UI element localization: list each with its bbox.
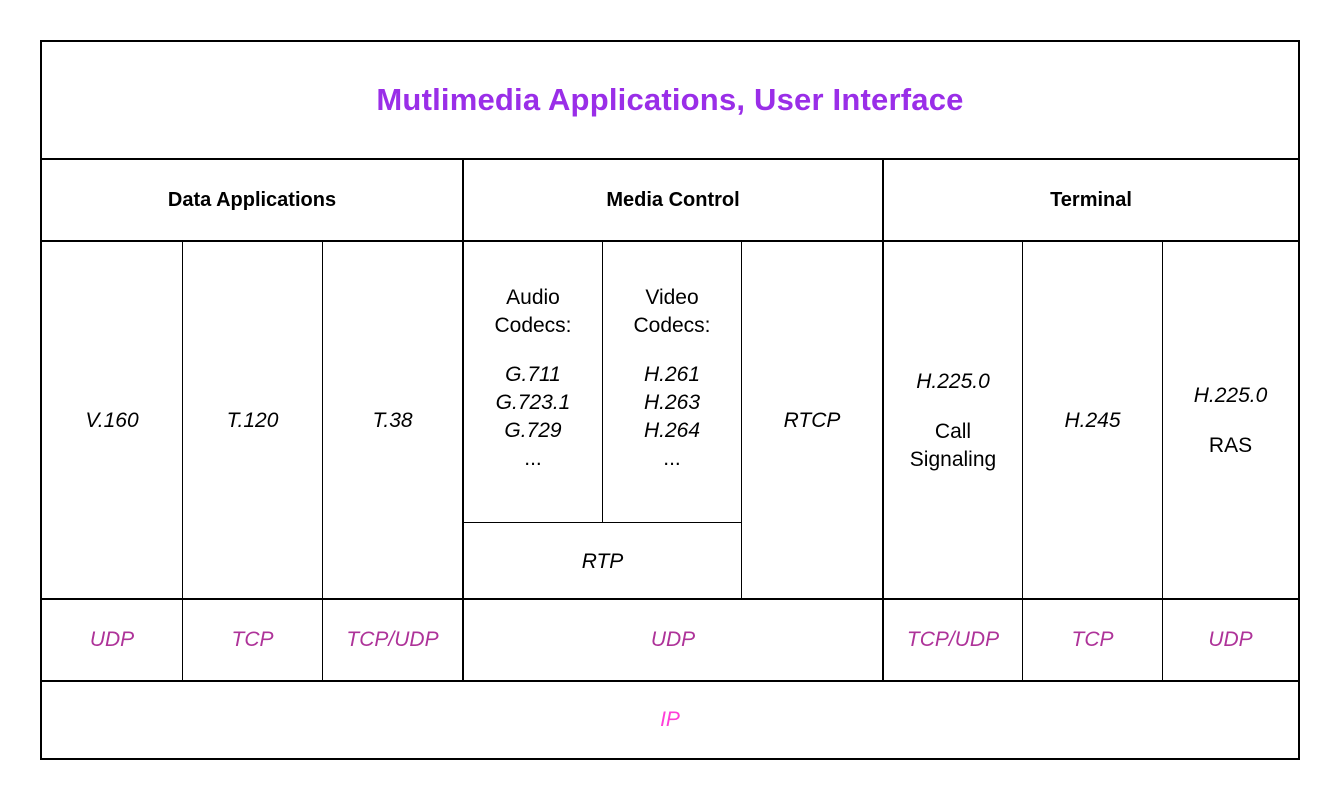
network-layer-row: IP [42, 682, 1298, 758]
label-v160: V.160 [85, 407, 138, 435]
transport-cell-v160: UDP [42, 600, 182, 680]
video-codecs-heading-line1: Video [645, 284, 698, 312]
cell-v160: V.160 [42, 242, 182, 600]
section-label-terminal: Terminal [1050, 189, 1132, 212]
label-rtcp: RTCP [784, 407, 841, 435]
diagram-title-band: Mutlimedia Applications, User Interface [42, 42, 1298, 160]
network-label-ip: IP [660, 708, 680, 732]
transport-cell-media: UDP [462, 600, 882, 680]
video-codecs-ellipsis: ... [663, 445, 681, 473]
cell-audio-codecs: Audio Codecs: G.711 G.723.1 G.729 ... [462, 242, 602, 522]
cell-t38: T.38 [322, 242, 462, 600]
label-ras: RAS [1209, 432, 1252, 460]
audio-codec-g711: G.711 [505, 361, 561, 389]
audio-codecs-ellipsis: ... [524, 445, 542, 473]
cell-rtcp: RTCP [742, 242, 882, 600]
label-t120: T.120 [227, 407, 279, 435]
transport-cell-h245: TCP [1022, 600, 1162, 680]
label-h245: H.245 [1064, 407, 1120, 435]
transport-label-tcp-1: TCP [232, 628, 274, 652]
transport-label-udp-2: UDP [651, 628, 695, 652]
video-codecs-heading-line2: Codecs: [633, 312, 710, 340]
audio-codec-g7231: G.723.1 [496, 389, 571, 417]
cell-h2250-call-signaling: H.225.0 Call Signaling [882, 242, 1022, 600]
section-terminal: Terminal [882, 160, 1298, 240]
protocol-stack-diagram: Mutlimedia Applications, User Interface … [40, 40, 1300, 760]
transport-label-udp-1: UDP [90, 628, 134, 652]
audio-codecs-heading-line2: Codecs: [494, 312, 571, 340]
cell-t120: T.120 [182, 242, 322, 600]
label-call-line1: Call [935, 418, 971, 446]
video-codec-h263: H.263 [644, 389, 700, 417]
label-rtp: RTP [582, 548, 624, 576]
section-header-row: Data Applications Media Control Terminal [42, 160, 1298, 242]
audio-codec-g729: G.729 [504, 417, 561, 445]
cell-h245: H.245 [1022, 242, 1162, 600]
transport-cell-ras: UDP [1162, 600, 1298, 680]
transport-cell-t38: TCP/UDP [322, 600, 462, 680]
audio-codecs-heading-line1: Audio [506, 284, 560, 312]
label-call-line2: Signaling [910, 446, 996, 474]
video-codec-h261: H.261 [644, 361, 700, 389]
label-h2250-ras: H.225.0 [1194, 382, 1268, 410]
section-media-control: Media Control [462, 160, 882, 240]
transport-cell-t120: TCP [182, 600, 322, 680]
page-title: Mutlimedia Applications, User Interface [376, 82, 963, 118]
transport-layer-row: UDP TCP TCP/UDP UDP TCP/UDP TCP UDP [42, 600, 1298, 682]
transport-cell-call-signaling: TCP/UDP [882, 600, 1022, 680]
section-data-applications: Data Applications [42, 160, 462, 240]
application-layer-row: V.160 T.120 T.38 Audio Codecs: G.711 G.7… [42, 242, 1298, 600]
section-label-media-control: Media Control [606, 189, 739, 212]
section-label-data-applications: Data Applications [168, 189, 336, 212]
cell-h2250-ras: H.225.0 RAS [1162, 242, 1298, 600]
label-t38: T.38 [372, 407, 412, 435]
cell-rtp: RTP [462, 522, 742, 600]
transport-label-tcp-2: TCP [1072, 628, 1114, 652]
transport-label-tcpudp-2: TCP/UDP [907, 628, 999, 652]
transport-label-tcpudp-1: TCP/UDP [346, 628, 438, 652]
cell-video-codecs: Video Codecs: H.261 H.263 H.264 ... [602, 242, 742, 522]
transport-label-udp-3: UDP [1208, 628, 1252, 652]
video-codec-h264: H.264 [644, 417, 700, 445]
label-h2250-call: H.225.0 [916, 368, 990, 396]
